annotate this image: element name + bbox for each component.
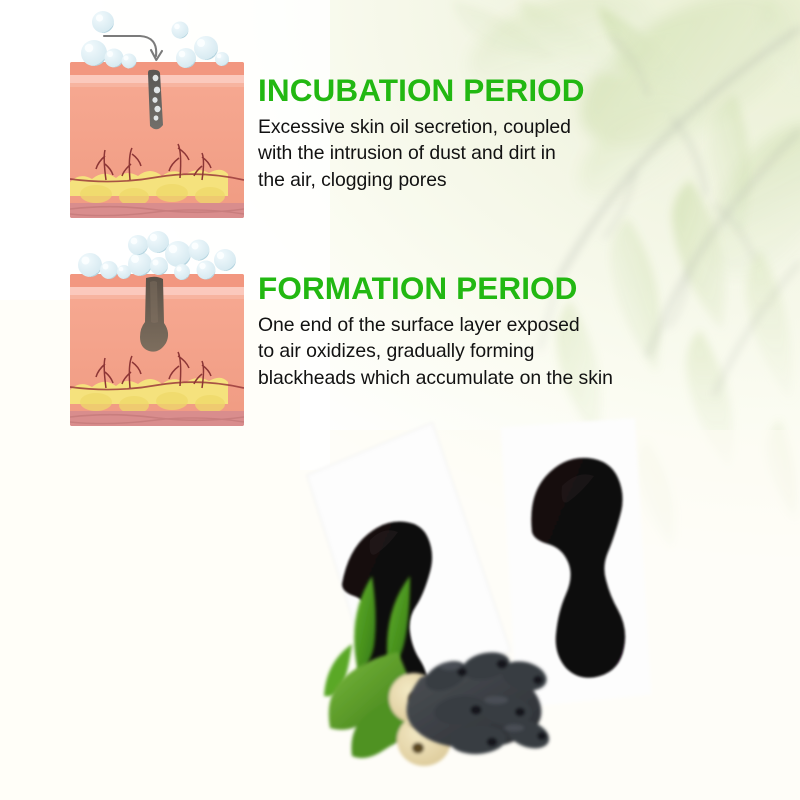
body-incubation: Excessive skin oil secretion, coupled wi…: [258, 114, 658, 192]
body-formation: One end of the surface layer exposed to …: [258, 312, 703, 390]
text-block-incubation: INCUBATION PERIOD Excessive skin oil sec…: [258, 74, 658, 193]
infographic-page: INCUBATION PERIOD Excessive skin oil sec…: [0, 0, 800, 800]
skin-block-2: [62, 274, 244, 426]
heading-formation: FORMATION PERIOD: [258, 272, 703, 305]
product-photo-charcoal-nose-strips: [300, 410, 800, 800]
bubbles-group-2: [78, 231, 236, 280]
text-block-formation: FORMATION PERIOD One end of the surface …: [258, 272, 703, 391]
skin-diagram-formation: [62, 228, 252, 434]
skin-diagram-incubation: [62, 4, 252, 226]
skin-block-1: [62, 62, 244, 218]
heading-incubation: INCUBATION PERIOD: [258, 74, 658, 107]
bubbles-group-1: [81, 11, 229, 69]
